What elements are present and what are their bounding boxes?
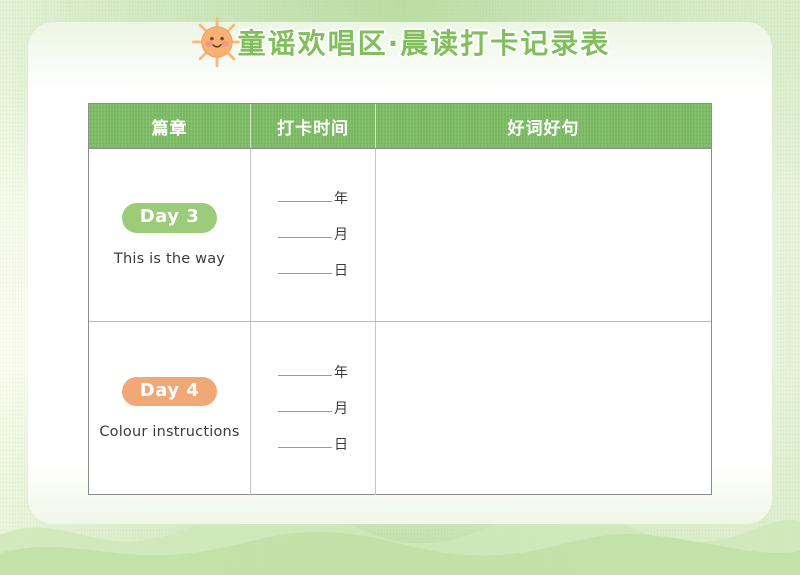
date-field-day[interactable]: 日	[278, 264, 348, 278]
chapter-cell-day3: Day 3 This is the way	[89, 149, 251, 321]
unit-day: 日	[334, 264, 348, 278]
checkin-time-cell-day4[interactable]: 年 月 日	[251, 322, 376, 495]
date-field-year[interactable]: 年	[278, 192, 348, 206]
table-header-row: 篇章 打卡时间 好词好句	[89, 104, 711, 149]
day-blank-line[interactable]	[278, 447, 332, 448]
date-fields: 年 月 日	[278, 192, 348, 278]
chapter-cell-day4: Day 4 Colour instructions	[89, 322, 251, 495]
date-field-month[interactable]: 月	[278, 402, 348, 416]
worksheet-page: 童谣欢唱区·晨读打卡记录表 篇章 打卡时间 好词好句 Day 3 This is…	[0, 0, 800, 575]
day-badge: Day 4	[122, 377, 218, 407]
lesson-title: Colour instructions	[99, 424, 239, 440]
unit-year: 年	[334, 366, 348, 380]
date-field-month[interactable]: 月	[278, 228, 348, 242]
column-header-chapter: 篇章	[89, 104, 251, 148]
unit-month: 月	[334, 228, 348, 242]
unit-year: 年	[334, 192, 348, 206]
date-field-day[interactable]: 日	[278, 438, 348, 452]
lesson-title: This is the way	[114, 251, 225, 267]
page-title-row: 童谣欢唱区·晨读打卡记录表	[0, 14, 800, 70]
unit-day: 日	[334, 438, 348, 452]
table-row: Day 4 Colour instructions 年 月 日	[89, 322, 711, 495]
day-blank-line[interactable]	[278, 273, 332, 274]
date-field-year[interactable]: 年	[278, 366, 348, 380]
checkin-table: 篇章 打卡时间 好词好句 Day 3 This is the way 年 月	[88, 103, 712, 495]
checkin-time-cell-day3[interactable]: 年 月 日	[251, 149, 376, 321]
column-header-checkin-time: 打卡时间	[251, 104, 376, 148]
month-blank-line[interactable]	[278, 411, 332, 412]
year-blank-line[interactable]	[278, 201, 332, 202]
table-row: Day 3 This is the way 年 月 日	[89, 149, 711, 322]
month-blank-line[interactable]	[278, 237, 332, 238]
notes-cell-day3[interactable]	[376, 149, 711, 321]
page-title: 童谣欢唱区·晨读打卡记录表	[238, 22, 611, 62]
day-badge: Day 3	[122, 203, 218, 233]
unit-month: 月	[334, 402, 348, 416]
year-blank-line[interactable]	[278, 375, 332, 376]
date-fields: 年 月 日	[278, 366, 348, 452]
notes-cell-day4[interactable]	[376, 322, 711, 495]
sun-icon	[190, 15, 244, 69]
column-header-good-words: 好词好句	[376, 104, 711, 148]
